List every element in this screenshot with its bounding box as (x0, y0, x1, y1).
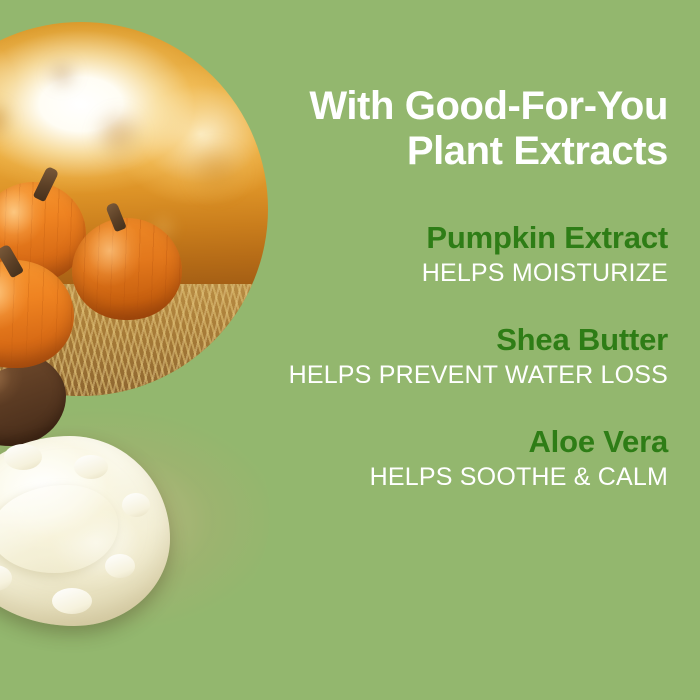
ingredient-aloe-vera: Aloe Vera HELPS SOOTHE & CALM (256, 424, 668, 494)
ingredient-name: Pumpkin Extract (256, 220, 668, 257)
ingredient-benefit: HELPS PREVENT WATER LOSS (256, 360, 668, 392)
product-benefits-banner: With Good-For-You Plant Extracts Pumpkin… (0, 0, 700, 700)
butter-crumb (105, 554, 135, 578)
headline-line-1: With Good-For-You (256, 84, 668, 129)
benefits-copy-block: With Good-For-You Plant Extracts Pumpkin… (256, 84, 668, 494)
headline-line-2: Plant Extracts (256, 129, 668, 174)
butter-crumb (4, 444, 42, 470)
butter-ridge (0, 485, 118, 572)
ingredient-pumpkin-extract: Pumpkin Extract HELPS MOISTURIZE (256, 220, 668, 290)
ingredient-name: Aloe Vera (256, 424, 668, 461)
pumpkin-photo-circle (0, 22, 268, 396)
pumpkin-shape (72, 218, 182, 320)
ingredient-shea-butter: Shea Butter HELPS PREVENT WATER LOSS (256, 322, 668, 392)
headline: With Good-For-You Plant Extracts (256, 84, 668, 174)
shea-butter-photo-circle (0, 356, 270, 672)
ingredient-benefit: HELPS SOOTHE & CALM (256, 462, 668, 494)
butter-crumb (122, 493, 150, 517)
butter-crumb (52, 588, 92, 614)
ingredient-benefit: HELPS MOISTURIZE (256, 258, 668, 290)
ingredient-name: Shea Butter (256, 322, 668, 359)
butter-crumb (0, 565, 12, 591)
butter-crumb (74, 455, 108, 479)
